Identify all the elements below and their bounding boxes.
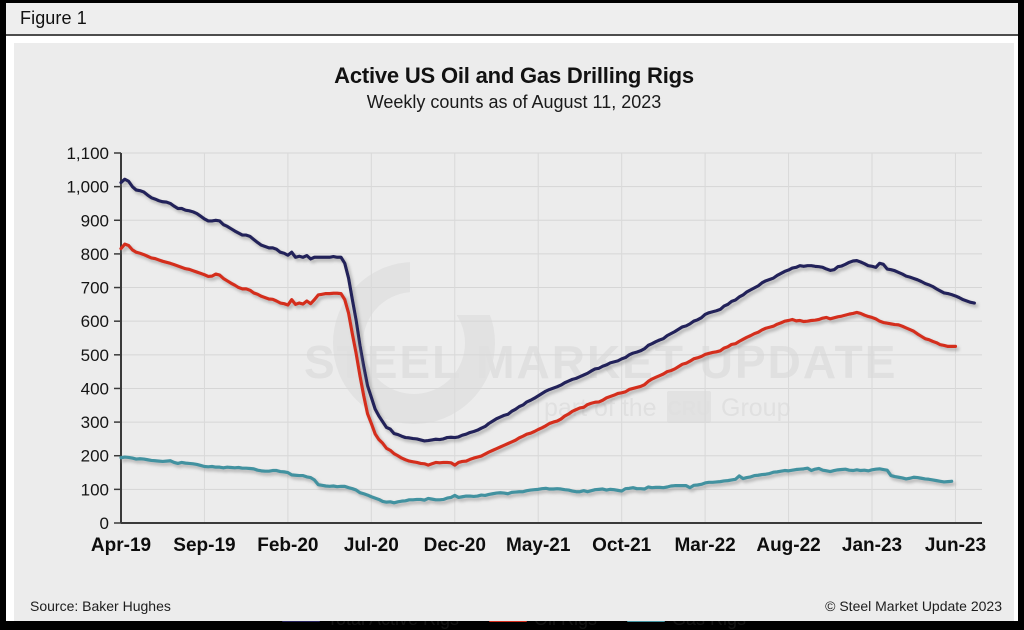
x-axis-tick-label: Jan-23 xyxy=(842,535,902,556)
figure-header-bar: Figure 1 xyxy=(6,3,1018,36)
x-axis-tick-label: Jul-20 xyxy=(344,535,399,556)
x-axis-tick-label: Aug-22 xyxy=(756,535,820,556)
watermark: STEEL MARKET UPDATEpart of theCRUGroup xyxy=(304,253,897,423)
y-axis-tick-label: 1,100 xyxy=(66,144,109,163)
y-axis-tick-label: 300 xyxy=(81,413,109,432)
y-axis-tick-label: 100 xyxy=(81,480,109,499)
plot-area: STEEL MARKET UPDATEpart of theCRUGroup01… xyxy=(14,43,1014,618)
y-axis-tick-label: 800 xyxy=(81,245,109,264)
series-line-gas-rigs xyxy=(121,457,952,503)
x-axis-tick-label: May-21 xyxy=(506,535,571,556)
x-axis-tick-label: Feb-20 xyxy=(257,535,318,556)
figure-label: Figure 1 xyxy=(20,8,87,29)
x-axis-tick-label: Dec-20 xyxy=(424,535,486,556)
watermark-group: Group xyxy=(721,394,790,422)
x-axis-tick-label: Oct-21 xyxy=(592,535,652,556)
source-label: Source: Baker Hughes xyxy=(30,598,171,614)
y-axis-tick-label: 400 xyxy=(81,379,109,398)
y-axis-tick-label: 700 xyxy=(81,279,109,298)
y-axis-tick-label: 900 xyxy=(81,211,109,230)
x-axis-tick-label: Sep-19 xyxy=(173,535,235,556)
x-axis-tick-label: Jun-23 xyxy=(925,535,986,556)
screenshot-frame: Figure 1 Active US Oil and Gas Drilling … xyxy=(0,0,1024,627)
y-axis-tick-label: 600 xyxy=(81,312,109,331)
chart-card: Active US Oil and Gas Drilling Rigs Week… xyxy=(14,43,1014,618)
x-axis-tick-label: Mar-22 xyxy=(674,535,735,556)
y-axis-tick-label: 0 xyxy=(100,514,109,533)
watermark-title: STEEL MARKET UPDATE xyxy=(304,336,897,388)
x-axis-tick-label: Apr-19 xyxy=(91,535,151,556)
chart-footer: Source: Baker Hughes © Steel Market Upda… xyxy=(14,595,1014,621)
watermark-brand: CRU xyxy=(667,398,710,420)
y-axis-tick-label: 200 xyxy=(81,447,109,466)
y-axis-tick-label: 1,000 xyxy=(66,178,109,197)
line-chart-svg: STEEL MARKET UPDATEpart of theCRUGroup01… xyxy=(14,43,1014,618)
copyright-label: © Steel Market Update 2023 xyxy=(825,598,1002,614)
y-axis-tick-label: 500 xyxy=(81,346,109,365)
